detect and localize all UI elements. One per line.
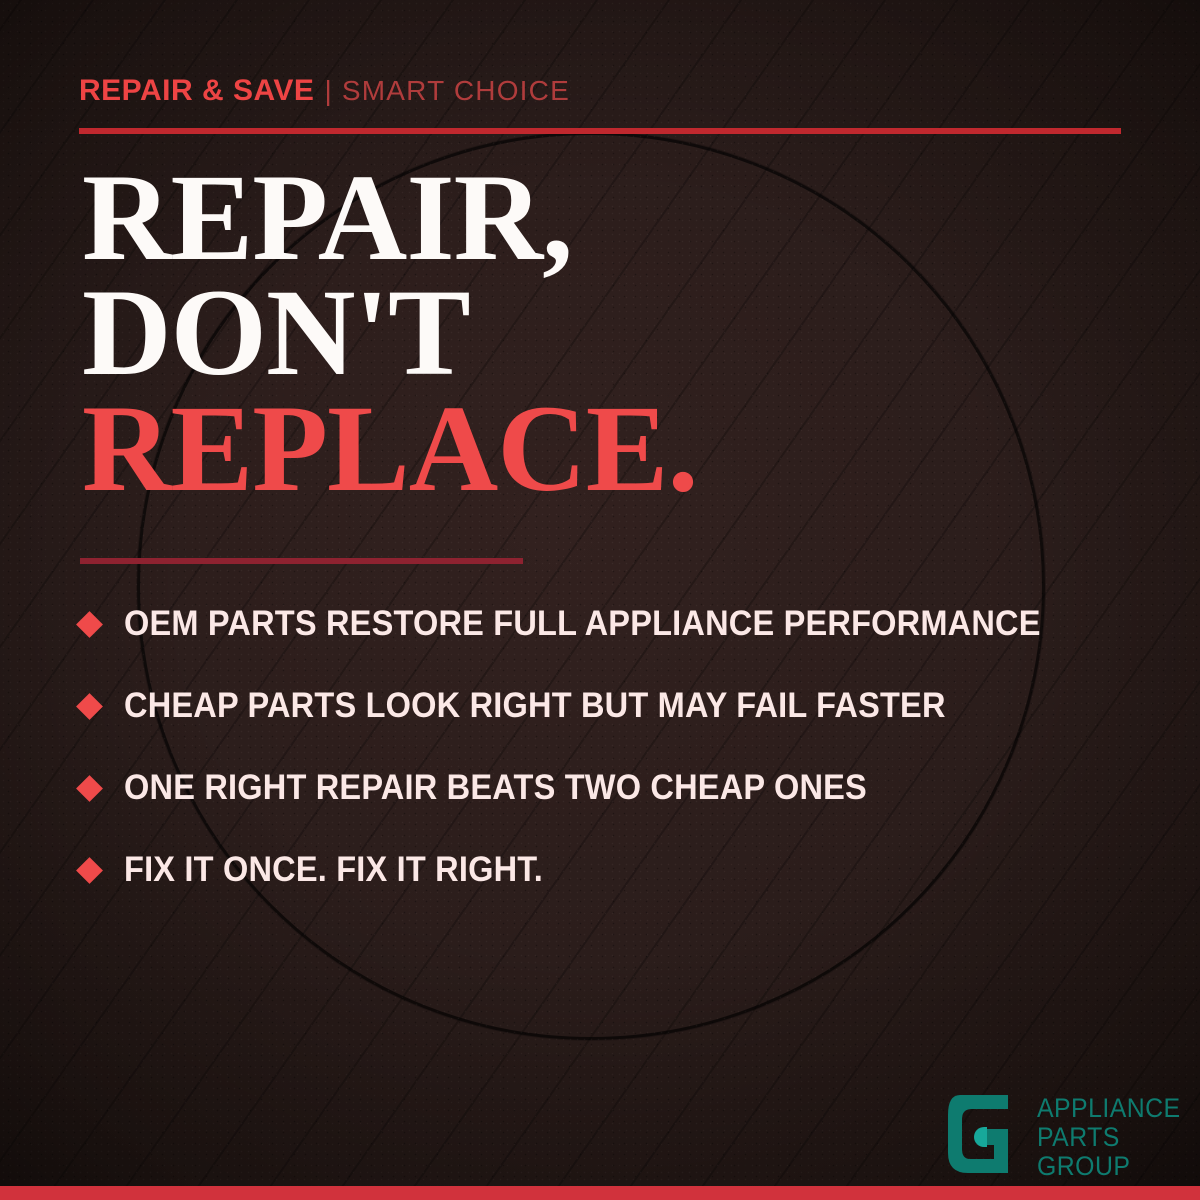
brand-logo: APPLIANCE PARTS GROUP [946, 1093, 1193, 1180]
diamond-bullet-icon [76, 857, 103, 884]
headline-divider [80, 558, 523, 564]
diamond-bullet-icon [76, 611, 103, 638]
headline-line-2: DON'T [82, 275, 698, 390]
eyebrow-primary-label: REPAIR & SAVE [79, 74, 314, 107]
headline-line-3: REPLACE. [82, 391, 698, 506]
brand-word-appliance: APPLIANCE [1037, 1095, 1181, 1122]
headline-line-1: REPAIR, [82, 160, 698, 275]
brand-word-parts: PARTS [1037, 1124, 1181, 1151]
brand-word-group: GROUP [1037, 1153, 1181, 1180]
list-item: OEM PARTS RESTORE FULL APPLIANCE PERFORM… [80, 583, 1170, 665]
diamond-bullet-icon [76, 693, 103, 720]
list-item-label: CHEAP PARTS LOOK RIGHT BUT MAY FAIL FAST… [124, 686, 946, 726]
list-item-label: OEM PARTS RESTORE FULL APPLIANCE PERFORM… [124, 604, 1041, 644]
footer-accent-bar [0, 1186, 1200, 1200]
page-title: REPAIR, DON'T REPLACE. [82, 160, 698, 506]
eyebrow-secondary-label: | SMART CHOICE [324, 75, 570, 106]
g-monogram-icon [946, 1093, 1024, 1175]
list-item: ONE RIGHT REPAIR BEATS TWO CHEAP ONES [80, 747, 1170, 829]
list-item: FIX IT ONCE. FIX IT RIGHT. [80, 829, 1170, 911]
list-item-label: FIX IT ONCE. FIX IT RIGHT. [124, 850, 543, 890]
brand-wordmark: APPLIANCE PARTS GROUP [1037, 1095, 1193, 1180]
eyebrow: REPAIR & SAVE| SMART CHOICE [79, 74, 570, 108]
list-item-label: ONE RIGHT REPAIR BEATS TWO CHEAP ONES [124, 768, 867, 808]
list-item: CHEAP PARTS LOOK RIGHT BUT MAY FAIL FAST… [80, 665, 1170, 747]
promo-poster: REPAIR & SAVE| SMART CHOICE REPAIR, DON'… [0, 0, 1200, 1200]
benefit-list: OEM PARTS RESTORE FULL APPLIANCE PERFORM… [80, 583, 1170, 911]
diamond-bullet-icon [76, 775, 103, 802]
poster-content: REPAIR & SAVE| SMART CHOICE REPAIR, DON'… [0, 0, 1200, 1200]
header-divider [79, 128, 1121, 134]
